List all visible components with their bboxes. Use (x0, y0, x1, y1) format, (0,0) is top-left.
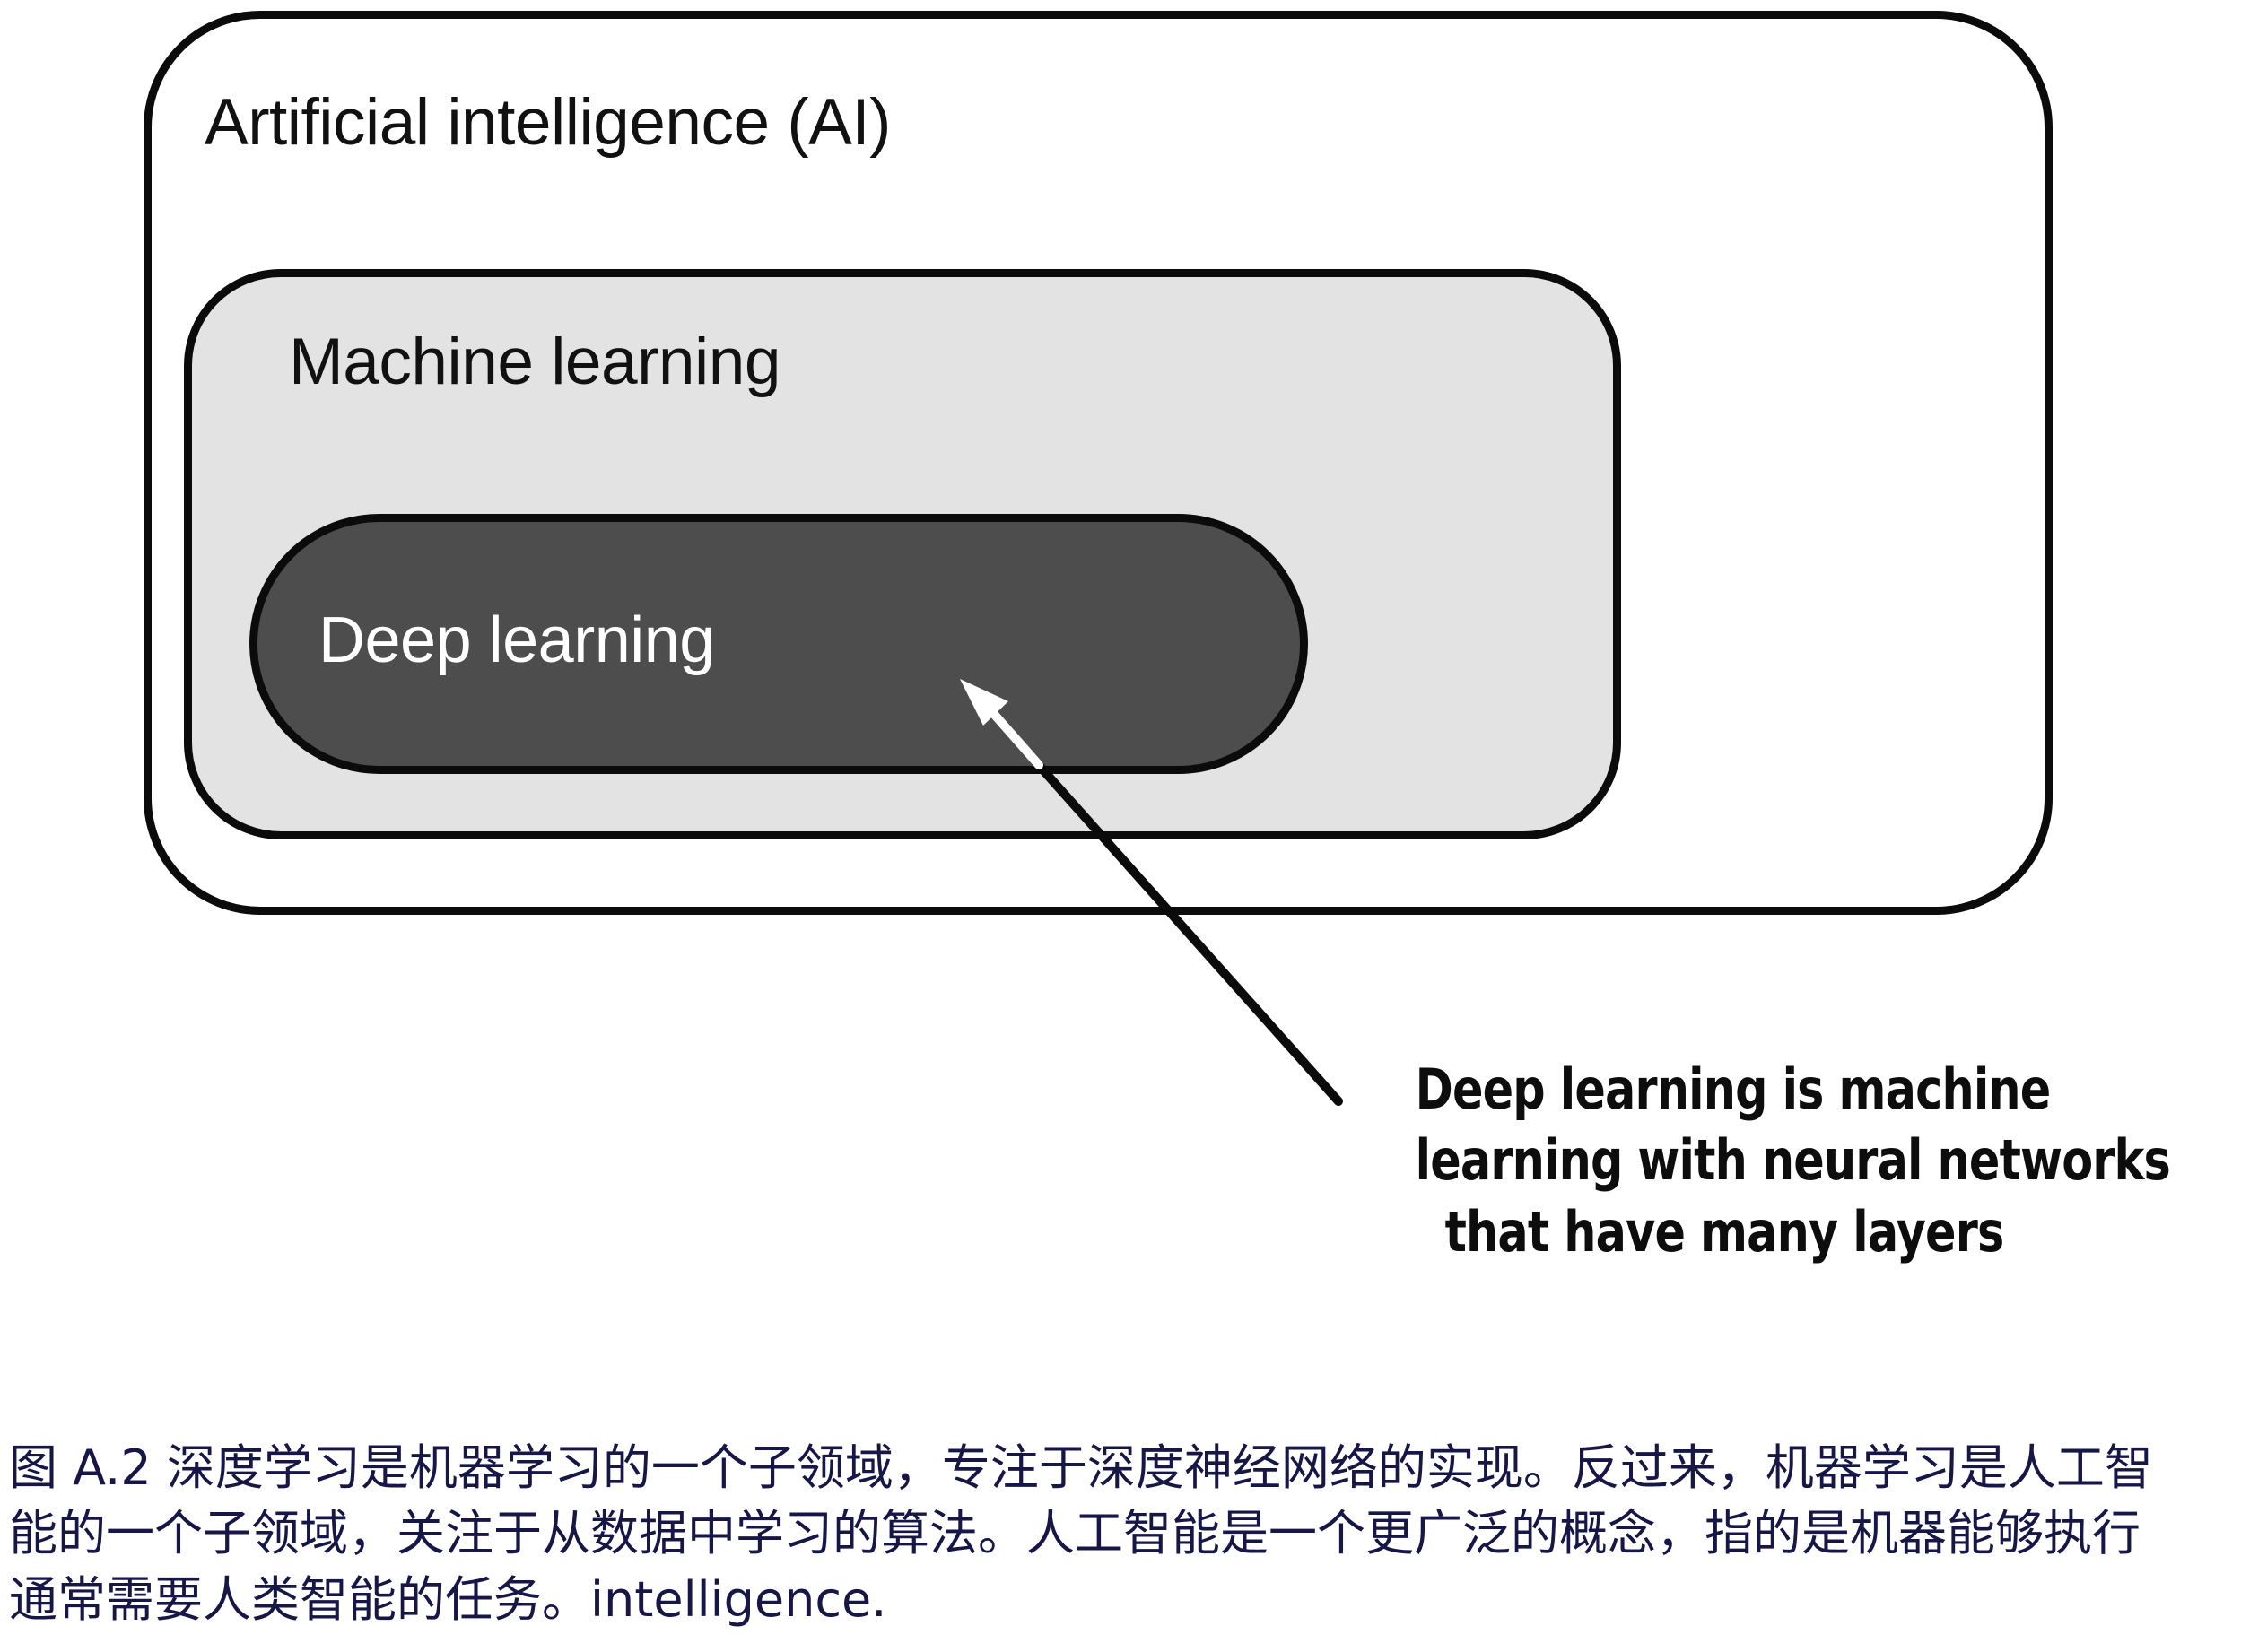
caption-line-2: 能的一个子领域，关注于从数据中学习的算法。人工智能是一个更广泛的概念，指的是机器… (9, 1500, 2234, 1566)
artificial-intelligence-label: Artificial intelligence (AI) (205, 90, 891, 155)
callout-line-3: that have many layers (1416, 1196, 2034, 1267)
machine-learning-label: Machine learning (289, 329, 780, 395)
caption-line-1: 图 A.2 深度学习是机器学习的一个子领域，专注于深度神经网络的实现。反过来，机… (9, 1435, 2234, 1500)
callout-line-2: learning with neural networks (1416, 1125, 2034, 1196)
venn-diagram-figure: Artificial intelligence (AI) Machine lea… (0, 0, 2241, 1399)
deep-learning-label: Deep learning (318, 608, 715, 673)
caption-line-3: 通常需要人类智能的任务。intelligence. (9, 1567, 2234, 1632)
callout-line-1: Deep learning is machine (1416, 1054, 2034, 1125)
figure-caption: 图 A.2 深度学习是机器学习的一个子领域，专注于深度神经网络的实现。反过来，机… (9, 1435, 2234, 1632)
callout-text: Deep learning is machine learning with n… (1416, 1054, 2034, 1267)
